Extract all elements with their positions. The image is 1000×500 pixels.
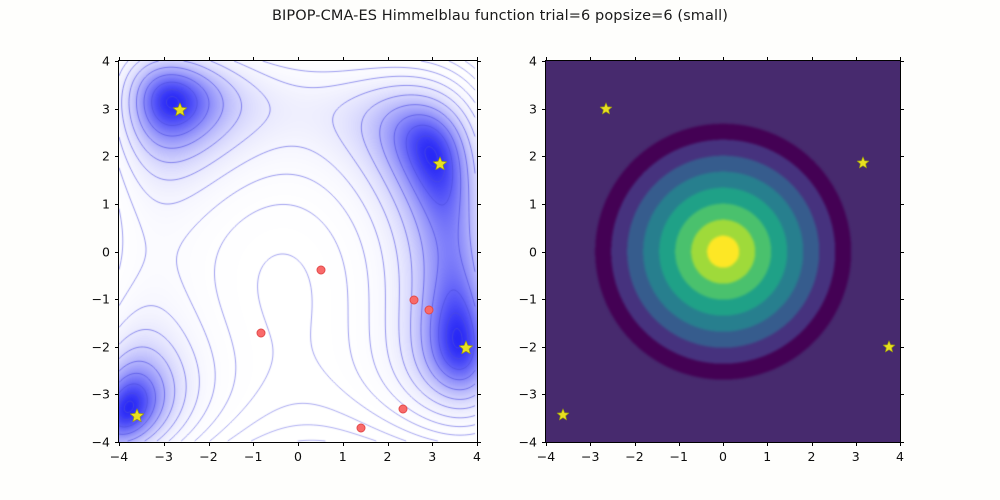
x-tick-mark: [388, 442, 389, 446]
y-tick-label: −4: [519, 435, 537, 450]
matplotlib-figure: BIPOP-CMA-ES Himmelblau function trial=6…: [0, 0, 1000, 500]
contour-plot-area: [119, 61, 477, 442]
x-tick-mark: [253, 442, 254, 446]
y-tick-mark-right: [477, 109, 481, 110]
y-tick-label: −3: [92, 387, 110, 402]
x-tick-label: 3: [852, 449, 860, 464]
x-tick-label: 2: [808, 449, 816, 464]
y-tick-label: −4: [92, 435, 110, 450]
x-tick-label: 1: [339, 449, 347, 464]
y-tick-label: −1: [92, 292, 110, 307]
x-tick-mark: [119, 442, 120, 446]
y-tick-mark: [115, 156, 119, 157]
y-tick-mark-right: [477, 299, 481, 300]
x-tick-mark-top: [856, 57, 857, 61]
x-tick-mark: [767, 442, 768, 446]
y-tick-label: 3: [529, 101, 537, 116]
x-tick-label: −1: [244, 449, 262, 464]
x-tick-mark-top: [546, 57, 547, 61]
x-tick-mark-top: [119, 57, 120, 61]
y-tick-mark: [542, 347, 546, 348]
x-tick-mark-top: [388, 57, 389, 61]
x-tick-mark: [590, 442, 591, 446]
x-tick-mark: [546, 442, 547, 446]
x-tick-label: −4: [110, 449, 128, 464]
y-tick-label: −3: [519, 387, 537, 402]
x-tick-mark-top: [343, 57, 344, 61]
y-tick-mark-right: [900, 61, 904, 62]
y-tick-mark-right: [477, 252, 481, 253]
population-point-1: [410, 296, 419, 305]
x-tick-mark-top: [298, 57, 299, 61]
y-tick-mark: [542, 204, 546, 205]
y-tick-mark: [542, 156, 546, 157]
x-tick-label: 2: [384, 449, 392, 464]
x-tick-mark-top: [635, 57, 636, 61]
y-tick-mark-right: [477, 61, 481, 62]
y-tick-mark: [115, 109, 119, 110]
x-tick-label: −4: [537, 449, 555, 464]
x-tick-mark-top: [812, 57, 813, 61]
y-tick-label: 4: [529, 54, 537, 69]
x-tick-label: 4: [896, 449, 904, 464]
y-tick-label: 3: [102, 101, 110, 116]
y-tick-mark-right: [900, 252, 904, 253]
y-tick-mark: [115, 299, 119, 300]
x-tick-mark-top: [432, 57, 433, 61]
x-tick-mark: [812, 442, 813, 446]
y-tick-label: 0: [102, 244, 110, 259]
y-tick-mark-right: [900, 156, 904, 157]
y-tick-mark: [115, 394, 119, 395]
y-tick-mark: [542, 61, 546, 62]
y-tick-mark: [542, 442, 546, 443]
x-tick-mark-top: [679, 57, 680, 61]
y-tick-mark: [115, 442, 119, 443]
x-tick-label: −3: [581, 449, 599, 464]
x-tick-mark-top: [164, 57, 165, 61]
population-point-2: [424, 305, 433, 314]
y-tick-label: 2: [529, 149, 537, 164]
x-tick-label: −2: [625, 449, 643, 464]
y-tick-mark-right: [900, 394, 904, 395]
x-tick-mark: [635, 442, 636, 446]
x-tick-label: 0: [294, 449, 302, 464]
x-tick-mark: [298, 442, 299, 446]
y-tick-mark-right: [477, 347, 481, 348]
distribution-plot-area: [546, 61, 900, 442]
y-tick-mark: [542, 394, 546, 395]
y-tick-mark-right: [477, 204, 481, 205]
contour-axes: −4−3−2−101234−4−3−2−101234: [118, 60, 478, 443]
y-tick-mark: [115, 61, 119, 62]
y-tick-mark-right: [900, 299, 904, 300]
y-tick-mark-right: [900, 442, 904, 443]
y-tick-label: 0: [529, 244, 537, 259]
x-tick-label: 4: [473, 449, 481, 464]
y-tick-mark-right: [900, 347, 904, 348]
population-point-4: [399, 404, 408, 413]
x-tick-mark: [343, 442, 344, 446]
x-tick-mark-top: [253, 57, 254, 61]
y-tick-label: 1: [102, 196, 110, 211]
figure-title: BIPOP-CMA-ES Himmelblau function trial=6…: [0, 8, 1000, 24]
y-tick-mark-right: [477, 394, 481, 395]
x-tick-label: 3: [428, 449, 436, 464]
y-tick-label: −1: [519, 292, 537, 307]
y-tick-mark-right: [900, 109, 904, 110]
y-tick-mark: [542, 109, 546, 110]
y-tick-label: 4: [102, 54, 110, 69]
population-point-3: [257, 329, 266, 338]
population-point-0: [317, 265, 326, 274]
y-tick-mark: [542, 299, 546, 300]
x-tick-label: −1: [670, 449, 688, 464]
y-tick-label: −2: [92, 339, 110, 354]
y-tick-mark: [115, 252, 119, 253]
y-tick-mark-right: [900, 204, 904, 205]
x-tick-mark: [432, 442, 433, 446]
x-tick-mark: [679, 442, 680, 446]
x-tick-mark: [723, 442, 724, 446]
population-point-5: [356, 423, 365, 432]
y-tick-mark: [542, 252, 546, 253]
x-tick-mark-top: [590, 57, 591, 61]
x-tick-mark-top: [767, 57, 768, 61]
y-tick-mark: [115, 204, 119, 205]
x-tick-mark: [209, 442, 210, 446]
x-tick-label: 1: [763, 449, 771, 464]
y-tick-mark-right: [477, 156, 481, 157]
y-tick-label: 1: [529, 196, 537, 211]
distribution-axes: −4−3−2−101234−4−3−2−101234: [545, 60, 901, 443]
x-tick-mark: [856, 442, 857, 446]
x-tick-label: 0: [719, 449, 727, 464]
x-tick-label: −2: [199, 449, 217, 464]
x-tick-mark: [164, 442, 165, 446]
x-tick-label: −3: [155, 449, 173, 464]
x-tick-mark-top: [723, 57, 724, 61]
y-tick-label: −2: [519, 339, 537, 354]
x-tick-mark-top: [209, 57, 210, 61]
y-tick-label: 2: [102, 149, 110, 164]
y-tick-mark-right: [477, 442, 481, 443]
density-blob: [595, 123, 852, 380]
y-tick-mark: [115, 347, 119, 348]
